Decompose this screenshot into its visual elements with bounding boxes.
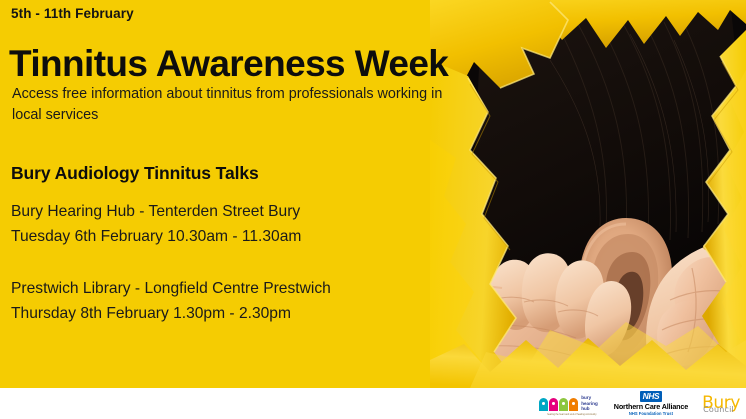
page-title: Tinnitus Awareness Week [9, 45, 448, 84]
section-title-audiology-talks: Bury Audiology Tinnitus Talks [11, 163, 259, 184]
event-venue: Bury Hearing Hub - Tenterden Street Bury [11, 200, 301, 225]
event-datetime: Thursday 8th February 1.30pm - 2.30pm [11, 302, 331, 327]
event-datetime: Tuesday 6th February 10.30am - 11.30am [11, 225, 301, 250]
poster-subheading: Access free information about tinnitus f… [12, 84, 452, 125]
bhh-tagline: hearing the heart and soul of hearing co… [547, 414, 596, 416]
nca-subtitle: NHS Foundation Trust [629, 412, 673, 416]
footer-logo-bar: bury hearing hub hearing the heart and s… [0, 388, 746, 419]
bury-hearing-hub-logo: bury hearing hub [537, 394, 600, 413]
date-range-eyebrow: 5th - 11th February [11, 6, 134, 21]
bury-council-logo: Bury Council [702, 395, 742, 412]
bhh-wordmark: bury hearing hub [581, 395, 598, 412]
nhs-badge-icon: NHS [640, 391, 663, 402]
tinnitus-awareness-poster: 5th - 11th February Tinnitus Awareness W… [0, 0, 746, 419]
torn-paper-ear-photo [430, 0, 746, 388]
event-venue: Prestwich Library - Longfield Centre Pre… [11, 277, 331, 302]
bhh-line3: hub [581, 406, 598, 412]
bury-council-subword: Council [703, 406, 734, 414]
event-item: Bury Hearing Hub - Tenterden Street Bury… [11, 200, 301, 249]
northern-care-alliance-logo: NHS Northern Care Alliance NHS Foundatio… [614, 391, 688, 416]
event-item: Prestwich Library - Longfield Centre Pre… [11, 277, 331, 326]
partner-logos: bury hearing hub hearing the heart and s… [537, 388, 742, 419]
poster-banner: 5th - 11th February Tinnitus Awareness W… [0, 0, 746, 388]
nca-title: Northern Care Alliance [614, 403, 688, 410]
bhh-arch-marks-icon [539, 396, 578, 411]
